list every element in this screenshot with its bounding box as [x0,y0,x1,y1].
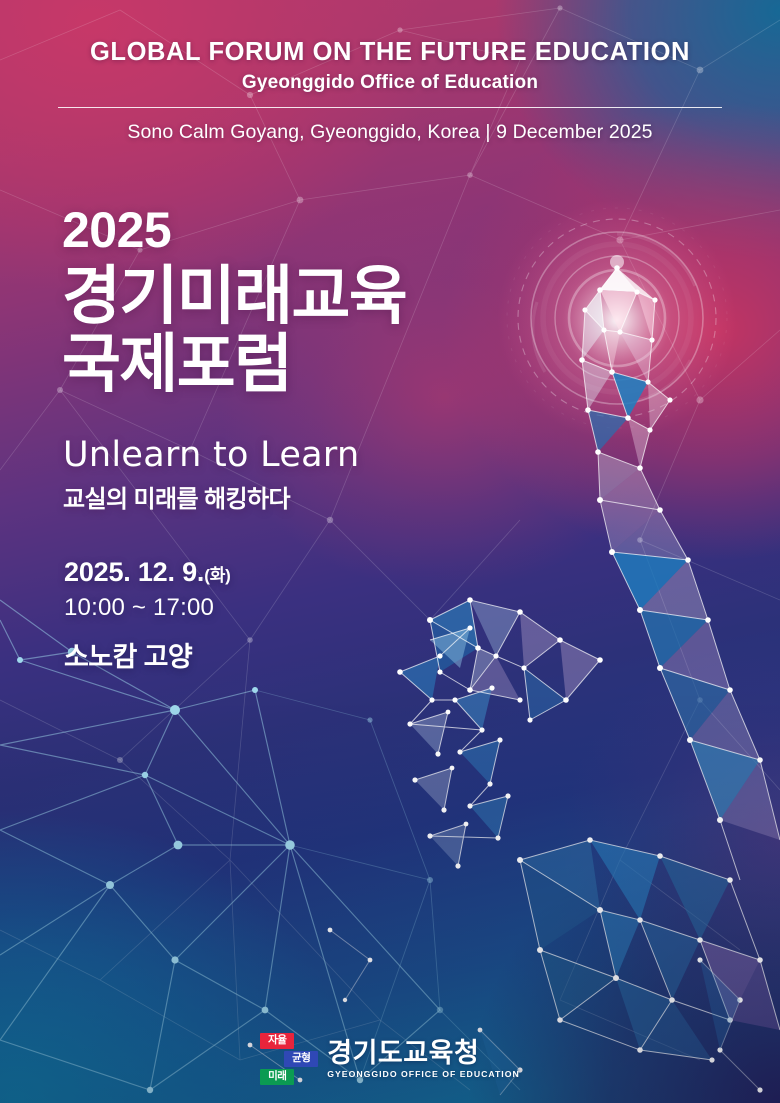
org-name-english: GYEONGGIDO OFFICE OF EDUCATION [327,1069,520,1079]
badge-gyunhyeong: 균형 [284,1051,318,1067]
event-day-of-week: (화) [204,566,230,585]
venue-date-english: Sono Calm Goyang, Gyeonggido, Korea | 9 … [0,121,780,144]
footer-logo: 자율 균형 미래 경기도교육청 GYEONGGIDO OFFICE OF EDU… [0,1033,780,1085]
badge-mirae: 미래 [260,1069,294,1085]
background-vignette [0,0,780,1103]
org-name-korean: 경기도교육청 [327,1039,520,1067]
organization-logo-text: 경기도교육청 GYEONGGIDO OFFICE OF EDUCATION [327,1039,520,1079]
event-date: 2025. 12. 9.(화) [64,558,231,588]
event-date-text: 2025. 12. 9. [64,557,204,587]
slogan-english: Unlearn to Learn [63,437,359,474]
event-time: 10:00 ~ 17:00 [64,595,231,621]
title-korean-line2: 국제포럼 [62,331,406,399]
main-title-block: 2025 경기미래교육 국제포럼 [62,205,406,399]
poster-root: GLOBAL FORUM ON THE FUTURE EDUCATION Gye… [0,0,780,1103]
title-korean-line1: 경기미래교육 [62,263,406,331]
badge-jayul: 자율 [260,1033,294,1049]
forum-title-english: GLOBAL FORUM ON THE FUTURE EDUCATION [0,38,780,66]
slogan-block: Unlearn to Learn 교실의 미래를 해킹하다 [63,437,359,514]
slogan-korean: 교실의 미래를 해킹하다 [63,479,359,514]
header-divider [58,107,722,108]
poster-header: GLOBAL FORUM ON THE FUTURE EDUCATION Gye… [0,38,780,144]
title-year: 2025 [62,205,406,255]
event-info-block: 2025. 12. 9.(화) 10:00 ~ 17:00 소노캄 고양 [64,558,231,673]
organizer-english: Gyeonggido Office of Education [0,72,780,94]
event-venue: 소노캄 고양 [64,643,231,673]
slogan-badges: 자율 균형 미래 [260,1033,318,1085]
